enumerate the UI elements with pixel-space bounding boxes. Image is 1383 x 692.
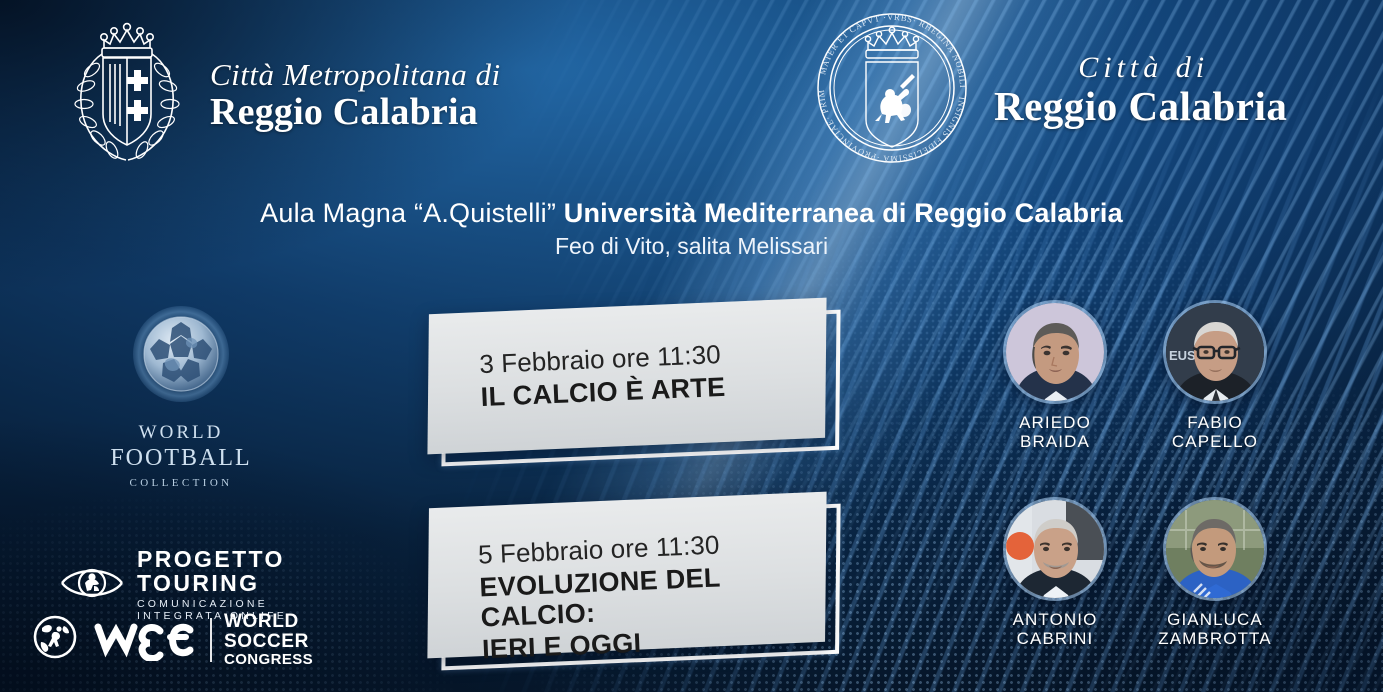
- wsc-divider: [210, 618, 212, 662]
- speaker-card-capello[interactable]: EUS2: [1140, 300, 1290, 451]
- pt-line-3: COMUNICAZIONE: [137, 598, 287, 610]
- event-poster: Città Metropolitana di Reggio Calabria M…: [0, 0, 1383, 692]
- speaker-last-name: BRAIDA: [1020, 432, 1090, 451]
- pt-line-1: PROGETTO: [137, 548, 287, 571]
- portrait-gianluca-zambrotta: [1163, 497, 1267, 601]
- wfc-line-1: WORLD: [106, 422, 256, 444]
- eye-icon: [58, 561, 126, 610]
- speaker-name: FABIO CAPELLO: [1140, 413, 1290, 451]
- event-card-1-copy: 3 Febbraio ore 11:30 IL CALCIO È ARTE: [479, 339, 726, 412]
- metropolitan-city-crest-text: Città Metropolitana di Reggio Calabria: [210, 59, 501, 131]
- speakers-grid: ARIEDO BRAIDA EUS2: [980, 300, 1300, 648]
- city-crest-text: Città di Reggio Calabria: [994, 53, 1287, 127]
- circular-knight-seal-icon: MATER ET CAPVT ·VRBS· RHEGINA NOBILIS IN…: [812, 8, 972, 173]
- speaker-card-braida[interactable]: ARIEDO BRAIDA: [980, 300, 1130, 451]
- speaker-first-name: ANTONIO: [1013, 610, 1098, 629]
- crest-line-2: Reggio Calabria: [210, 93, 501, 132]
- crest-line-2: Reggio Calabria: [994, 86, 1287, 128]
- portrait-antonio-cabrini: [1003, 497, 1107, 601]
- speaker-card-cabrini[interactable]: ANTONIO CABRINI: [980, 497, 1130, 648]
- globe-player-icon: [32, 614, 78, 665]
- venue-address: Feo di Vito, salita Melissari: [0, 233, 1383, 260]
- event-card-1[interactable]: 3 Febbraio ore 11:30 IL CALCIO È ARTE: [428, 306, 840, 458]
- portrait-fabio-capello: EUS2: [1163, 300, 1267, 404]
- wsc-monogram: [90, 613, 198, 666]
- pt-line-2: TOURING: [137, 571, 287, 595]
- event-card-2-copy: 5 Febbraio ore 11:30 EVOLUZIONE DEL CALC…: [478, 525, 843, 666]
- world-soccer-congress-logo: WORLD SOCCER CONGRESS: [32, 612, 313, 668]
- city-crest-block: MATER ET CAPVT ·VRBS· RHEGINA NOBILIS IN…: [812, 8, 1287, 173]
- venue-block: Aula Magna “A.Quistelli” Università Medi…: [0, 198, 1383, 260]
- speaker-last-name: CABRINI: [1017, 629, 1094, 648]
- wfc-line-2: FOOTBALL: [106, 445, 256, 472]
- speaker-name: GIANLUCA ZAMBROTTA: [1140, 610, 1290, 648]
- speaker-last-name: ZAMBROTTA: [1158, 629, 1271, 648]
- venue-title-line: Aula Magna “A.Quistelli” Università Medi…: [0, 198, 1383, 229]
- speaker-first-name: ARIEDO: [1019, 413, 1091, 432]
- globe-soccer-ball-icon: [126, 302, 236, 412]
- poster-header: Città Metropolitana di Reggio Calabria M…: [0, 0, 1383, 180]
- wsc-line-3: CONGRESS: [224, 652, 313, 668]
- crest-line-1: Città Metropolitana di: [210, 59, 501, 91]
- shield-laurel-crest-icon: [62, 18, 192, 173]
- venue-hall: Aula Magna “A.Quistelli”: [260, 198, 564, 228]
- speaker-last-name: CAPELLO: [1172, 432, 1258, 451]
- portrait-ariedo-braida: [1003, 300, 1107, 404]
- speaker-first-name: FABIO: [1187, 413, 1243, 432]
- wsc-line-2: SOCCER: [224, 632, 313, 652]
- speaker-name: ANTONIO CABRINI: [980, 610, 1130, 648]
- venue-institution: Università Mediterranea di Reggio Calabr…: [564, 198, 1123, 228]
- wsc-line-1: WORLD: [224, 612, 313, 632]
- speakers-row-top: ARIEDO BRAIDA EUS2: [980, 300, 1300, 451]
- wsc-wordmark: WORLD SOCCER CONGRESS: [224, 612, 313, 668]
- crest-line-1: Città di: [994, 53, 1287, 84]
- event-card-2[interactable]: 5 Febbraio ore 11:30 EVOLUZIONE DEL CALC…: [428, 500, 840, 665]
- wfc-line-3: COLLECTION: [106, 477, 256, 489]
- speakers-row-bottom: ANTONIO CABRINI: [980, 497, 1300, 648]
- metropolitan-city-crest-block: Città Metropolitana di Reggio Calabria: [62, 18, 501, 173]
- speaker-first-name: GIANLUCA: [1167, 610, 1263, 629]
- world-football-collection-logo: WORLD FOOTBALL COLLECTION: [106, 302, 256, 489]
- speaker-card-zambrotta[interactable]: GIANLUCA ZAMBROTTA: [1140, 497, 1290, 648]
- speaker-name: ARIEDO BRAIDA: [980, 413, 1130, 451]
